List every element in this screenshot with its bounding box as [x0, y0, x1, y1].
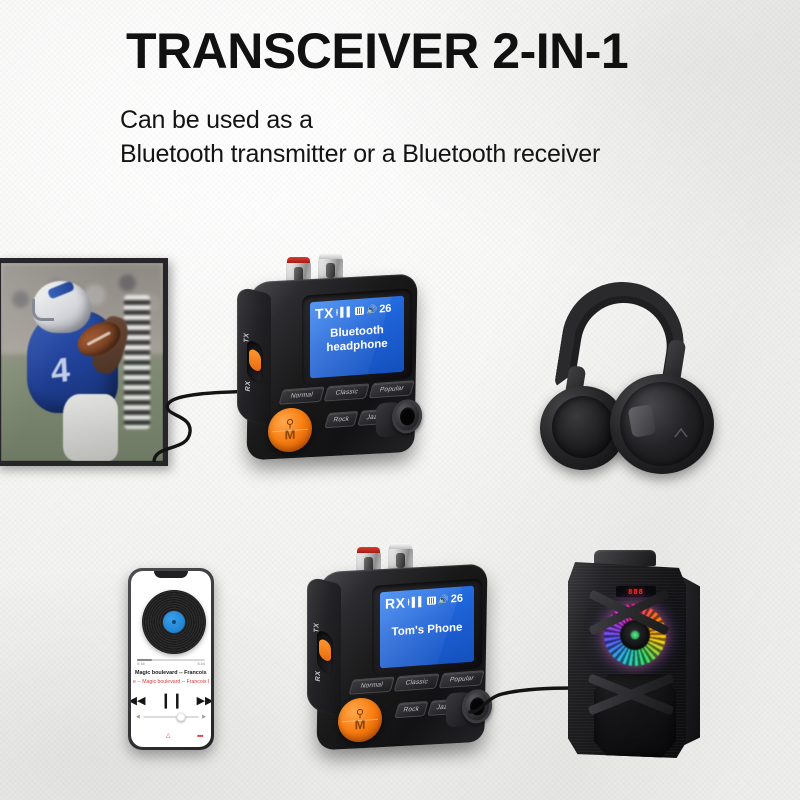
- tx-status-bar: TX ⍿ ▌▌ 🔊 26: [315, 300, 400, 322]
- tx-device-left-face: TX RX: [237, 286, 271, 426]
- rx-display: RX ⍿ ▌▌ 🔊 26 Tom's Phone: [380, 586, 474, 669]
- speaker-icon: 🔊: [366, 305, 377, 315]
- volume-low-icon: ◀: [136, 714, 140, 720]
- rx-preset-normal-button[interactable]: Normal: [349, 676, 395, 694]
- tx-preset-rock-button[interactable]: Rock: [324, 411, 358, 428]
- tx-screen-bezel: TX ⍿ ▌▌ 🔊 26 Bluetooth headphone: [302, 288, 412, 386]
- vinyl-record-icon: [142, 590, 206, 654]
- airplay-icon[interactable]: △: [166, 732, 171, 739]
- marketing-image-canvas: TRANSCEIVER 2-IN-1 Can be used as a Blue…: [0, 0, 800, 800]
- subtitle-line-1: Can be used as a: [120, 106, 313, 135]
- party-speaker: 888: [558, 548, 708, 760]
- tx-volume-value: 26: [379, 303, 391, 316]
- tx-preset-classic-button[interactable]: Classic: [324, 383, 370, 401]
- phone-notch: [154, 571, 188, 578]
- track-elapsed-time: 0:16: [137, 661, 145, 666]
- tx-display: TX ⍿ ▌▌ 🔊 26 Bluetooth headphone: [310, 296, 404, 379]
- tx-mode-label: TX: [315, 305, 334, 322]
- phone-screen: 0:16 3:44 Magic boulevard -- Francois Fe…: [131, 571, 211, 747]
- sd-card-icon: [427, 596, 436, 605]
- tx-aux-jack[interactable]: [376, 396, 420, 441]
- rx-preset-popular-button[interactable]: Popular: [439, 670, 485, 688]
- rca-white-pin: [326, 263, 335, 278]
- volume-high-icon: ▶: [202, 714, 206, 720]
- subtitle-line-2: Bluetooth transmitter or a Bluetooth rec…: [120, 140, 600, 169]
- tv-screen: 4: [1, 263, 163, 461]
- track-total-time: 3:44: [197, 661, 205, 666]
- volume-slider-knob[interactable]: [177, 713, 186, 722]
- bluetooth-icon: ⍿: [407, 598, 409, 607]
- rx-device-left-face: TX RX: [307, 576, 341, 716]
- switch-label-rx: RX: [245, 380, 252, 392]
- playback-controls[interactable]: ◀◀ ❙❙ ▶▶: [131, 691, 211, 709]
- rx-transceiver[interactable]: TX RX RX ⍿ ▌▌ 🔊 26 Tom's Phone Norm: [304, 546, 504, 756]
- screen-glare: [1, 263, 163, 461]
- bluetooth-headphones: [534, 278, 714, 478]
- headphone-earpad-left: [552, 396, 614, 458]
- rx-volume-value: 26: [451, 592, 463, 605]
- signal-bars-icon: ▌▌: [340, 307, 353, 317]
- tx-preset-popular-button[interactable]: Popular: [369, 380, 415, 398]
- speaker-center-dot: [631, 631, 640, 640]
- rx-preset-rock-button[interactable]: Rock: [394, 701, 428, 718]
- rx-screen-bezel: RX ⍿ ▌▌ 🔊 26 Tom's Phone: [372, 578, 482, 676]
- rx-aux-jack[interactable]: [446, 686, 490, 731]
- volume-slider-row[interactable]: ◀ ▶: [136, 714, 206, 720]
- pause-icon[interactable]: ❙❙: [159, 691, 182, 709]
- switch-label-tx: TX: [243, 332, 250, 344]
- next-icon[interactable]: ▶▶: [197, 694, 211, 707]
- rx-screen-text-line1: Tom's Phone: [384, 620, 470, 640]
- sd-card-icon: [355, 307, 364, 316]
- headphone-hinge-plate: [628, 404, 657, 438]
- switch-label-tx: TX: [313, 622, 320, 634]
- rca-white-pin: [396, 553, 405, 568]
- volume-slider-track[interactable]: [143, 716, 199, 718]
- rx-preset-classic-button[interactable]: Classic: [394, 673, 440, 691]
- tx-transceiver[interactable]: TX RX TX ⍿ ▌▌ 🔊 26 Bluetooth headphone: [234, 256, 434, 466]
- phone-bottom-bar[interactable]: △ ■■■: [131, 732, 211, 739]
- track-time-row: 0:16 3:44: [137, 661, 205, 666]
- rx-screen-text: Tom's Phone: [380, 620, 474, 641]
- headphone-brand-logo: [674, 426, 688, 438]
- tx-preset-normal-button[interactable]: Normal: [279, 386, 325, 404]
- bluetooth-icon: ⍿: [336, 308, 338, 317]
- signal-bars-icon: ▌▌: [412, 597, 425, 607]
- lyrics-icon[interactable]: ■■■: [197, 733, 203, 738]
- smartphone-music-player[interactable]: 0:16 3:44 Magic boulevard -- Francois Fe…: [128, 568, 214, 750]
- rx-status-bar: RX ⍿ ▌▌ 🔊 26: [385, 590, 470, 612]
- speaker-led-display: 888: [616, 586, 656, 597]
- speaker-icon: 🔊: [438, 595, 449, 605]
- speaker-front-panel: 888: [568, 562, 686, 758]
- previous-icon[interactable]: ◀◀: [131, 694, 145, 707]
- track-subtitle: e -- Magic boulevard -- Francois Fe: [133, 679, 209, 685]
- album-art: [137, 587, 211, 657]
- switch-label-rx: RX: [315, 670, 322, 682]
- television-showing-football: 4: [0, 258, 168, 466]
- vinyl-spindle-hole: [172, 620, 176, 624]
- page-title: TRANSCEIVER 2-IN-1: [126, 22, 628, 80]
- tx-screen-text: Bluetooth headphone: [310, 322, 404, 357]
- rx-mode-label: RX: [385, 595, 405, 612]
- track-title: Magic boulevard -- Francois Fe: [135, 670, 207, 676]
